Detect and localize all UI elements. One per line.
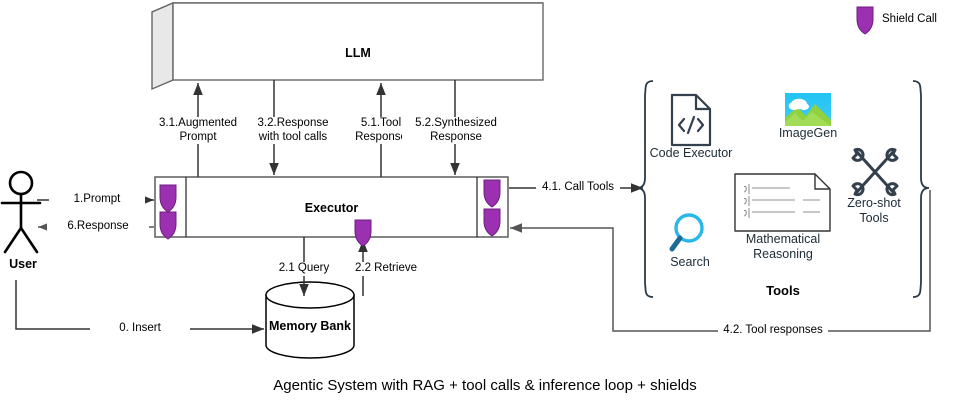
tool-label-imagegen: ImageGen <box>763 126 853 141</box>
edge-label-call-tools: 4.1. Call Tools <box>536 181 620 195</box>
math-document-icon <box>735 174 830 231</box>
user-stick-figure <box>2 172 40 252</box>
tool-label-code-executor: Code Executor <box>641 146 741 161</box>
llm-title: LLM <box>173 46 543 60</box>
legend-shield-label: Shield Call <box>882 13 937 25</box>
shield-executor-out-bottom <box>484 209 500 236</box>
tools-right-brace <box>913 81 929 297</box>
diagram-vector-layer <box>0 0 970 411</box>
tool-label-search: Search <box>655 255 725 270</box>
tools-group-title: Tools <box>723 283 843 298</box>
image-gen-icon <box>785 93 831 126</box>
tool-label-mathematical-reasoning: Mathematical Reasoning <box>728 232 838 262</box>
shield-executor-out-top <box>484 180 500 207</box>
tools-left-brace <box>637 81 653 297</box>
edge-label-synthesized-response: 5.2.Synthesized Response <box>402 117 510 144</box>
diagram-caption: Agentic System with RAG + tool calls & i… <box>0 377 970 394</box>
edge-label-insert: 0. Insert <box>90 322 190 336</box>
edge-label-prompt: 1.Prompt <box>49 193 145 207</box>
diagram-canvas: LLM Executor Memory Bank User Tools 1.Pr… <box>0 0 970 411</box>
memory-bank-title: Memory Bank <box>266 319 354 333</box>
magnifier-icon <box>672 215 702 249</box>
edge-label-response-tool-calls: 3.2.Response with tool calls <box>238 117 348 144</box>
edge-label-retrieve: 2.2 Retrieve <box>340 262 432 276</box>
user-title: User <box>0 257 46 271</box>
shield-memory-retrieve <box>355 220 371 246</box>
shield-executor-in-top <box>160 185 176 212</box>
executor-title: Executor <box>186 201 477 215</box>
shield-legend-icon <box>857 7 873 34</box>
edge-label-response: 6.Response <box>47 220 149 234</box>
code-document-icon <box>672 95 710 145</box>
shield-executor-in-bottom <box>160 212 176 239</box>
crossed-wrenches-icon <box>853 149 897 194</box>
edge-label-query: 2.1 Query <box>262 262 346 276</box>
edge-label-tool-responses: 4.2. Tool responses <box>718 324 828 338</box>
tool-label-zero-shot-tools: Zero-shot Tools <box>833 196 915 226</box>
